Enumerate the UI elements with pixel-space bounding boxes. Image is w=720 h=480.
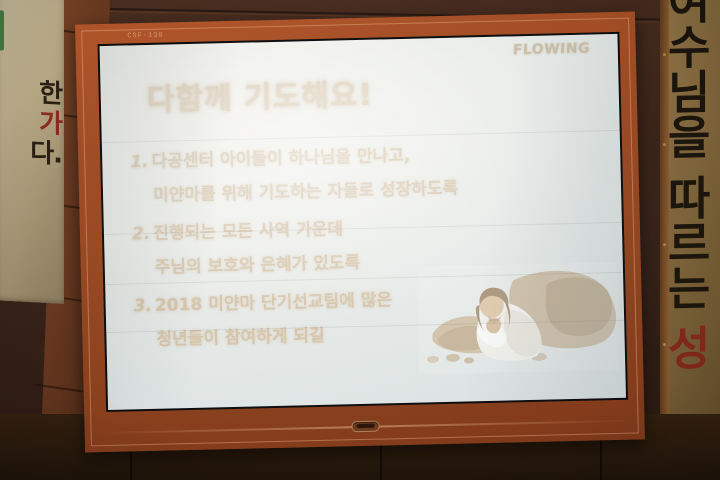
prayer-point-1-line2: 미얀마를 위해 기도하는 자들로 성장하도록 xyxy=(153,170,607,206)
prayer-point-3-line1: 2018 미얀마 단기선교팀에 많은 xyxy=(155,290,393,316)
banner-right-rail xyxy=(660,0,669,480)
projector-screen-assembly: CSF-130 FLOWING 다함께 기도해요! 1.다공센터 아이들이 하나… xyxy=(75,11,645,452)
frame-model-label: CSF-130 xyxy=(127,32,164,41)
prayer-point-3-number: 3. xyxy=(133,296,152,316)
slide-content: FLOWING 다함께 기도해요! 1.다공센터 아이들이 하나님을 만나고, … xyxy=(100,34,626,410)
prayer-point-1-number: 1. xyxy=(130,152,149,172)
flowing-logo: FLOWING xyxy=(512,41,590,59)
photo-scene: 한 가 다. 여 수 님 을 따 르 는 성 CSF-130 xyxy=(0,0,720,480)
praying-figure-illustration xyxy=(417,262,619,375)
banner-right: 여 수 님 을 따 르 는 성 xyxy=(660,0,720,480)
prayer-point-1-line1: 다공센터 아이들이 하나님을 만나고, xyxy=(151,146,410,172)
slide-title: 다함께 기도해요! xyxy=(146,70,373,119)
prayer-point-1: 1.다공센터 아이들이 하나님을 만나고, 미얀마를 위해 기도하는 자들로 성… xyxy=(130,136,607,206)
projection-surface: FLOWING 다함께 기도해요! 1.다공센터 아이들이 하나님을 만나고, … xyxy=(100,34,626,410)
screen-latch[interactable] xyxy=(351,421,379,433)
banner-left: 한 가 다. xyxy=(0,0,64,304)
